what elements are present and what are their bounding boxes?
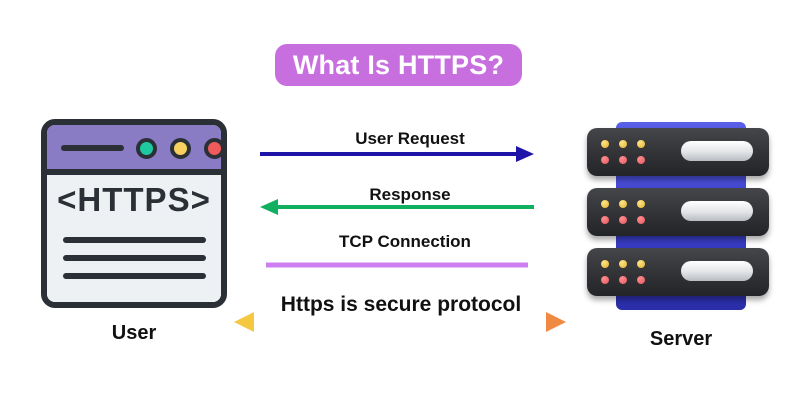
content-line-2 [63,255,206,261]
browser-menu-icon [61,145,124,151]
page-title: What Is HTTPS? [293,50,504,81]
led-red [601,156,609,164]
line-tcp-connection [264,260,530,270]
led-yellow [601,200,609,208]
user-browser-window: <HTTPS> [41,119,227,308]
led-red [637,156,645,164]
rack-drive-bar [681,261,753,281]
led-yellow [619,260,627,268]
led-red [601,216,609,224]
browser-url-text: <HTTPS> [47,181,221,219]
user-label: User [41,322,227,345]
led-red [619,216,627,224]
led-yellow [619,140,627,148]
browser-titlebar [47,125,221,175]
rack-drive-bar [681,201,753,221]
teal-dot-icon [136,138,157,159]
led-red [619,156,627,164]
arrow-secure-protocol [232,310,568,334]
arrow-user-request [258,145,536,163]
server-rack-1 [587,128,769,176]
content-line-3 [63,273,206,279]
led-yellow [637,140,645,148]
led-yellow [601,140,609,148]
led-yellow [601,260,609,268]
red-dot-icon [204,138,225,159]
led-red [637,216,645,224]
led-yellow [619,200,627,208]
server-icon [583,116,779,316]
browser-content: <HTTPS> [47,175,221,302]
led-red [619,276,627,284]
led-red [637,276,645,284]
led-yellow [637,260,645,268]
led-yellow [637,200,645,208]
flow-label-tcp-connection: TCP Connection [255,232,555,252]
server-rack-3 [587,248,769,296]
yellow-dot-icon [170,138,191,159]
page-title-badge: What Is HTTPS? [275,44,522,86]
led-red [601,276,609,284]
diagram-canvas: What Is HTTPS? <HTTPS> User [0,0,800,400]
rack-drive-bar [681,141,753,161]
server-rack-2 [587,188,769,236]
arrow-response [258,198,536,216]
server-label: Server [583,328,779,351]
content-line-1 [63,237,206,243]
